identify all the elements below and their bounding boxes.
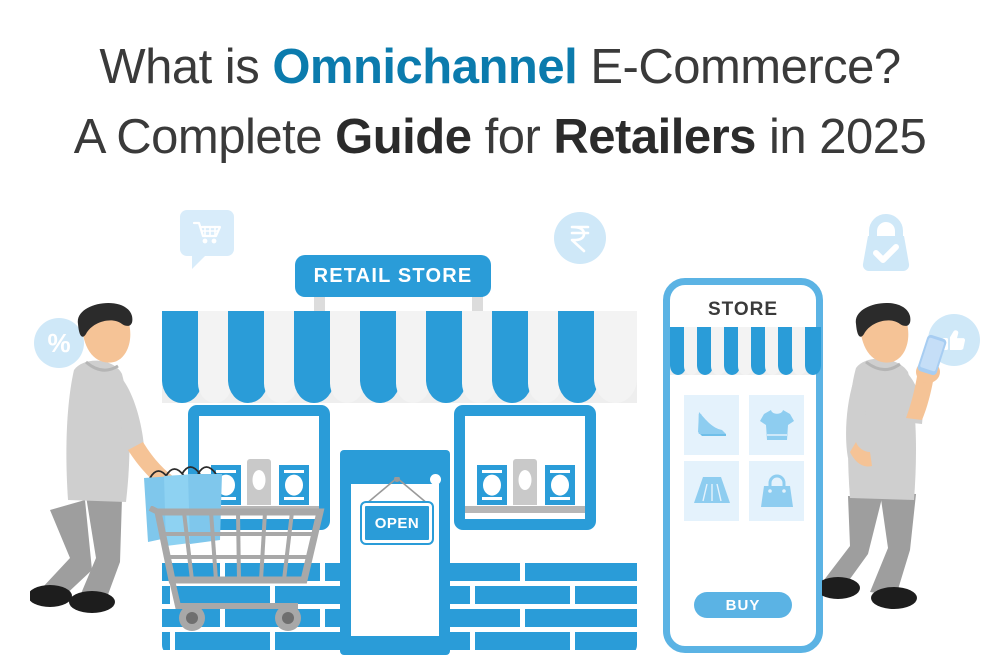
headline-text-in-2025: in 2025 — [756, 110, 926, 164]
awning-stripe — [528, 311, 562, 403]
headline-line-2: A Complete Guide for Retailers in 2025 — [0, 102, 1000, 172]
awning-stripe — [462, 311, 496, 403]
headline-text-ecommerce: E-Commerce? — [577, 40, 900, 94]
awning-stripe — [558, 311, 598, 403]
retail-store-sign: RETAIL STORE — [295, 255, 491, 297]
illustration-scene: % RETAIL STORE — [0, 190, 1000, 665]
awning-stripe — [330, 311, 364, 403]
awning-stripe — [264, 311, 298, 403]
product-box — [545, 465, 575, 505]
shopper-with-phone — [822, 300, 982, 630]
product-bag — [513, 459, 537, 505]
product-box — [279, 465, 309, 505]
skirt-icon — [692, 474, 732, 508]
high-heel-shoe-icon — [692, 406, 732, 444]
shopping-cart-bubble-icon — [180, 210, 234, 256]
open-sign: OPEN — [362, 503, 432, 543]
secure-lock-check-icon — [855, 210, 917, 276]
open-sign-strings — [362, 477, 432, 505]
awning-stripe — [594, 311, 637, 403]
phone-awning — [670, 327, 816, 375]
headline-text-a-complete: A Complete — [74, 110, 335, 164]
headline-text-what-is: What is — [99, 40, 272, 94]
phone-awning-stripe — [805, 327, 821, 375]
handbag-icon — [759, 472, 795, 510]
awning-stripe — [426, 311, 466, 403]
headline-text-retailers: Retailers — [553, 110, 756, 164]
awning-stripe — [360, 311, 400, 403]
product-tile-skirt[interactable] — [684, 461, 739, 521]
product-box — [477, 465, 507, 505]
headline-text-for: for — [471, 110, 553, 164]
headline-text-omnichannel: Omnichannel — [272, 40, 577, 94]
product-tile-high-heel-shoe[interactable] — [684, 395, 739, 455]
phone-store-label: STORE — [708, 299, 778, 321]
headline-text-guide: Guide — [335, 110, 471, 164]
t-shirt-icon — [758, 407, 796, 443]
awning-stripe — [396, 311, 430, 403]
shopping-cart — [148, 506, 328, 636]
buy-button-label: BUY — [726, 597, 761, 614]
headline-line-1: What is Omnichannel E-Commerce? — [0, 32, 1000, 102]
mobile-store-app: STORE — [663, 278, 823, 653]
awning-stripe — [294, 311, 334, 403]
storefront-window-right — [454, 405, 596, 530]
illustration-page: What is Omnichannel E-Commerce? A Comple… — [0, 0, 1000, 665]
retail-store-sign-label: RETAIL STORE — [314, 265, 473, 288]
window-shelf — [465, 506, 585, 513]
product-tile-t-shirt[interactable] — [749, 395, 804, 455]
open-sign-label: OPEN — [375, 515, 420, 532]
product-tile-handbag[interactable] — [749, 461, 804, 521]
page-title: What is Omnichannel E-Commerce? A Comple… — [0, 32, 1000, 172]
buy-button[interactable]: BUY — [694, 592, 792, 618]
awning-stripe — [492, 311, 532, 403]
